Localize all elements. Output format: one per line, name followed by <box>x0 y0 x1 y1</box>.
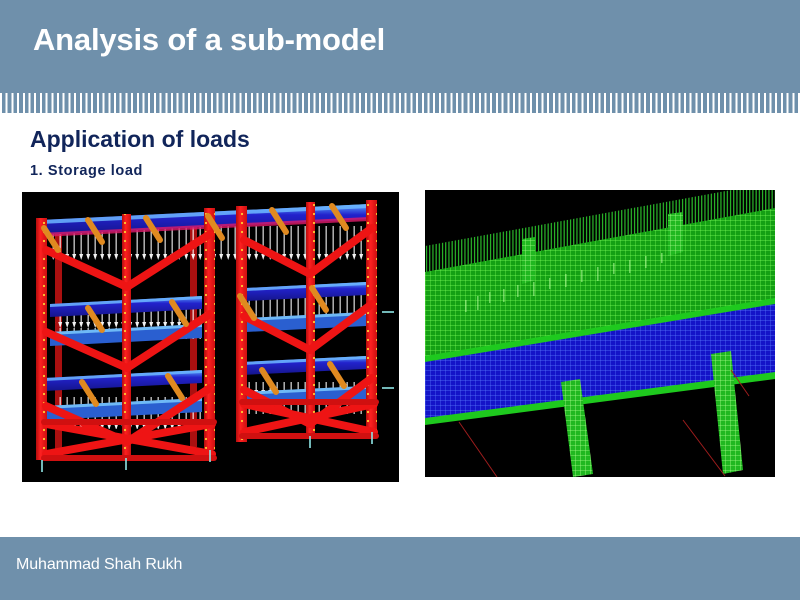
header-tick-divider <box>0 93 800 113</box>
stiffener-upper-left <box>522 237 535 284</box>
bullet-item-storage-load: 1. Storage load <box>30 163 143 179</box>
slide-content-area: Application of loads 1. Storage load <box>0 113 800 537</box>
figure-sub-model-mesh-closeup <box>425 190 775 477</box>
slide-header-band: Analysis of a sub-model <box>0 0 800 93</box>
sub-model-mesh-render <box>425 190 775 477</box>
section-heading: Application of loads <box>30 126 250 153</box>
footer-author-name: Muhammad Shah Rukh <box>16 556 182 574</box>
storage-rack-render <box>22 192 399 482</box>
page-title: Analysis of a sub-model <box>33 22 385 58</box>
slide-footer-band: Muhammad Shah Rukh <box>0 537 800 600</box>
figure-storage-rack-load-model <box>22 192 399 482</box>
stiffener-upper-right <box>668 212 683 256</box>
